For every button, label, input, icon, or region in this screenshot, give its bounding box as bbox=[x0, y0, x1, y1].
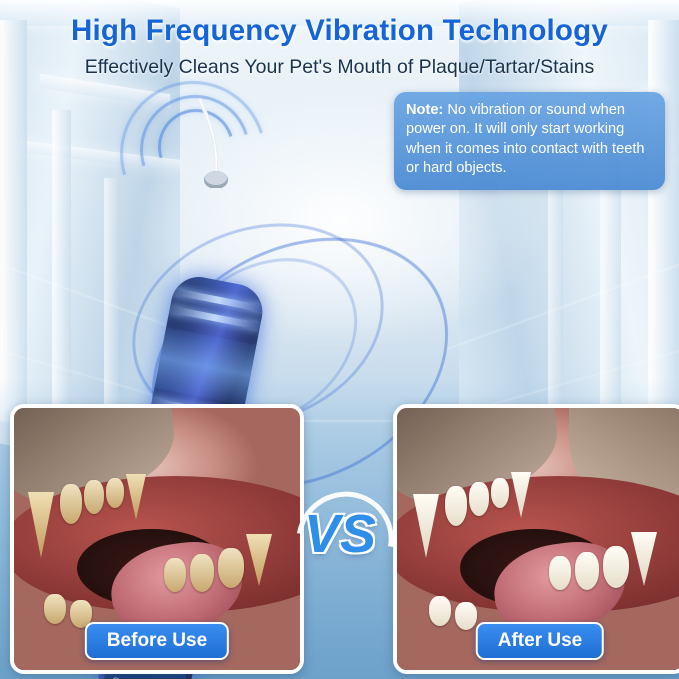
after-tooth-10 bbox=[429, 596, 451, 626]
before-tooth-4 bbox=[106, 478, 124, 508]
before-use-card: Before Use bbox=[10, 404, 304, 674]
after-tooth-4 bbox=[491, 478, 509, 508]
before-tooth-7 bbox=[190, 554, 214, 592]
pcb-text-2: Co bbox=[110, 675, 126, 679]
after-tooth-2 bbox=[445, 486, 467, 526]
before-tooth-8 bbox=[218, 548, 244, 588]
before-tooth-6 bbox=[164, 558, 186, 592]
after-use-card: After Use bbox=[393, 404, 679, 674]
page-title: High Frequency Vibration Technology bbox=[0, 14, 679, 48]
after-tooth-8 bbox=[603, 546, 629, 588]
page-subtitle: Effectively Cleans Your Pet's Mouth of P… bbox=[0, 56, 679, 79]
promo-image: Sof Co High Frequency Vibration Technolo… bbox=[0, 0, 679, 679]
scaler-tip-icon bbox=[170, 96, 240, 188]
after-use-badge: After Use bbox=[476, 622, 604, 660]
before-tooth-2 bbox=[60, 484, 82, 524]
after-tooth-3 bbox=[469, 482, 489, 516]
after-tooth-11 bbox=[455, 602, 477, 630]
after-tooth-6 bbox=[549, 556, 571, 590]
pillar-right-1 bbox=[648, 20, 679, 420]
after-tooth-7 bbox=[575, 552, 599, 590]
before-use-badge: Before Use bbox=[85, 622, 229, 660]
note-label: Note: bbox=[406, 102, 443, 118]
pillar-left-1 bbox=[0, 20, 27, 420]
note-box: Note: No vibration or sound when power o… bbox=[394, 92, 665, 190]
before-tooth-10 bbox=[44, 594, 66, 624]
handle-glow-band bbox=[154, 327, 256, 405]
vs-label: VS bbox=[302, 498, 378, 570]
before-tooth-3 bbox=[84, 480, 104, 514]
